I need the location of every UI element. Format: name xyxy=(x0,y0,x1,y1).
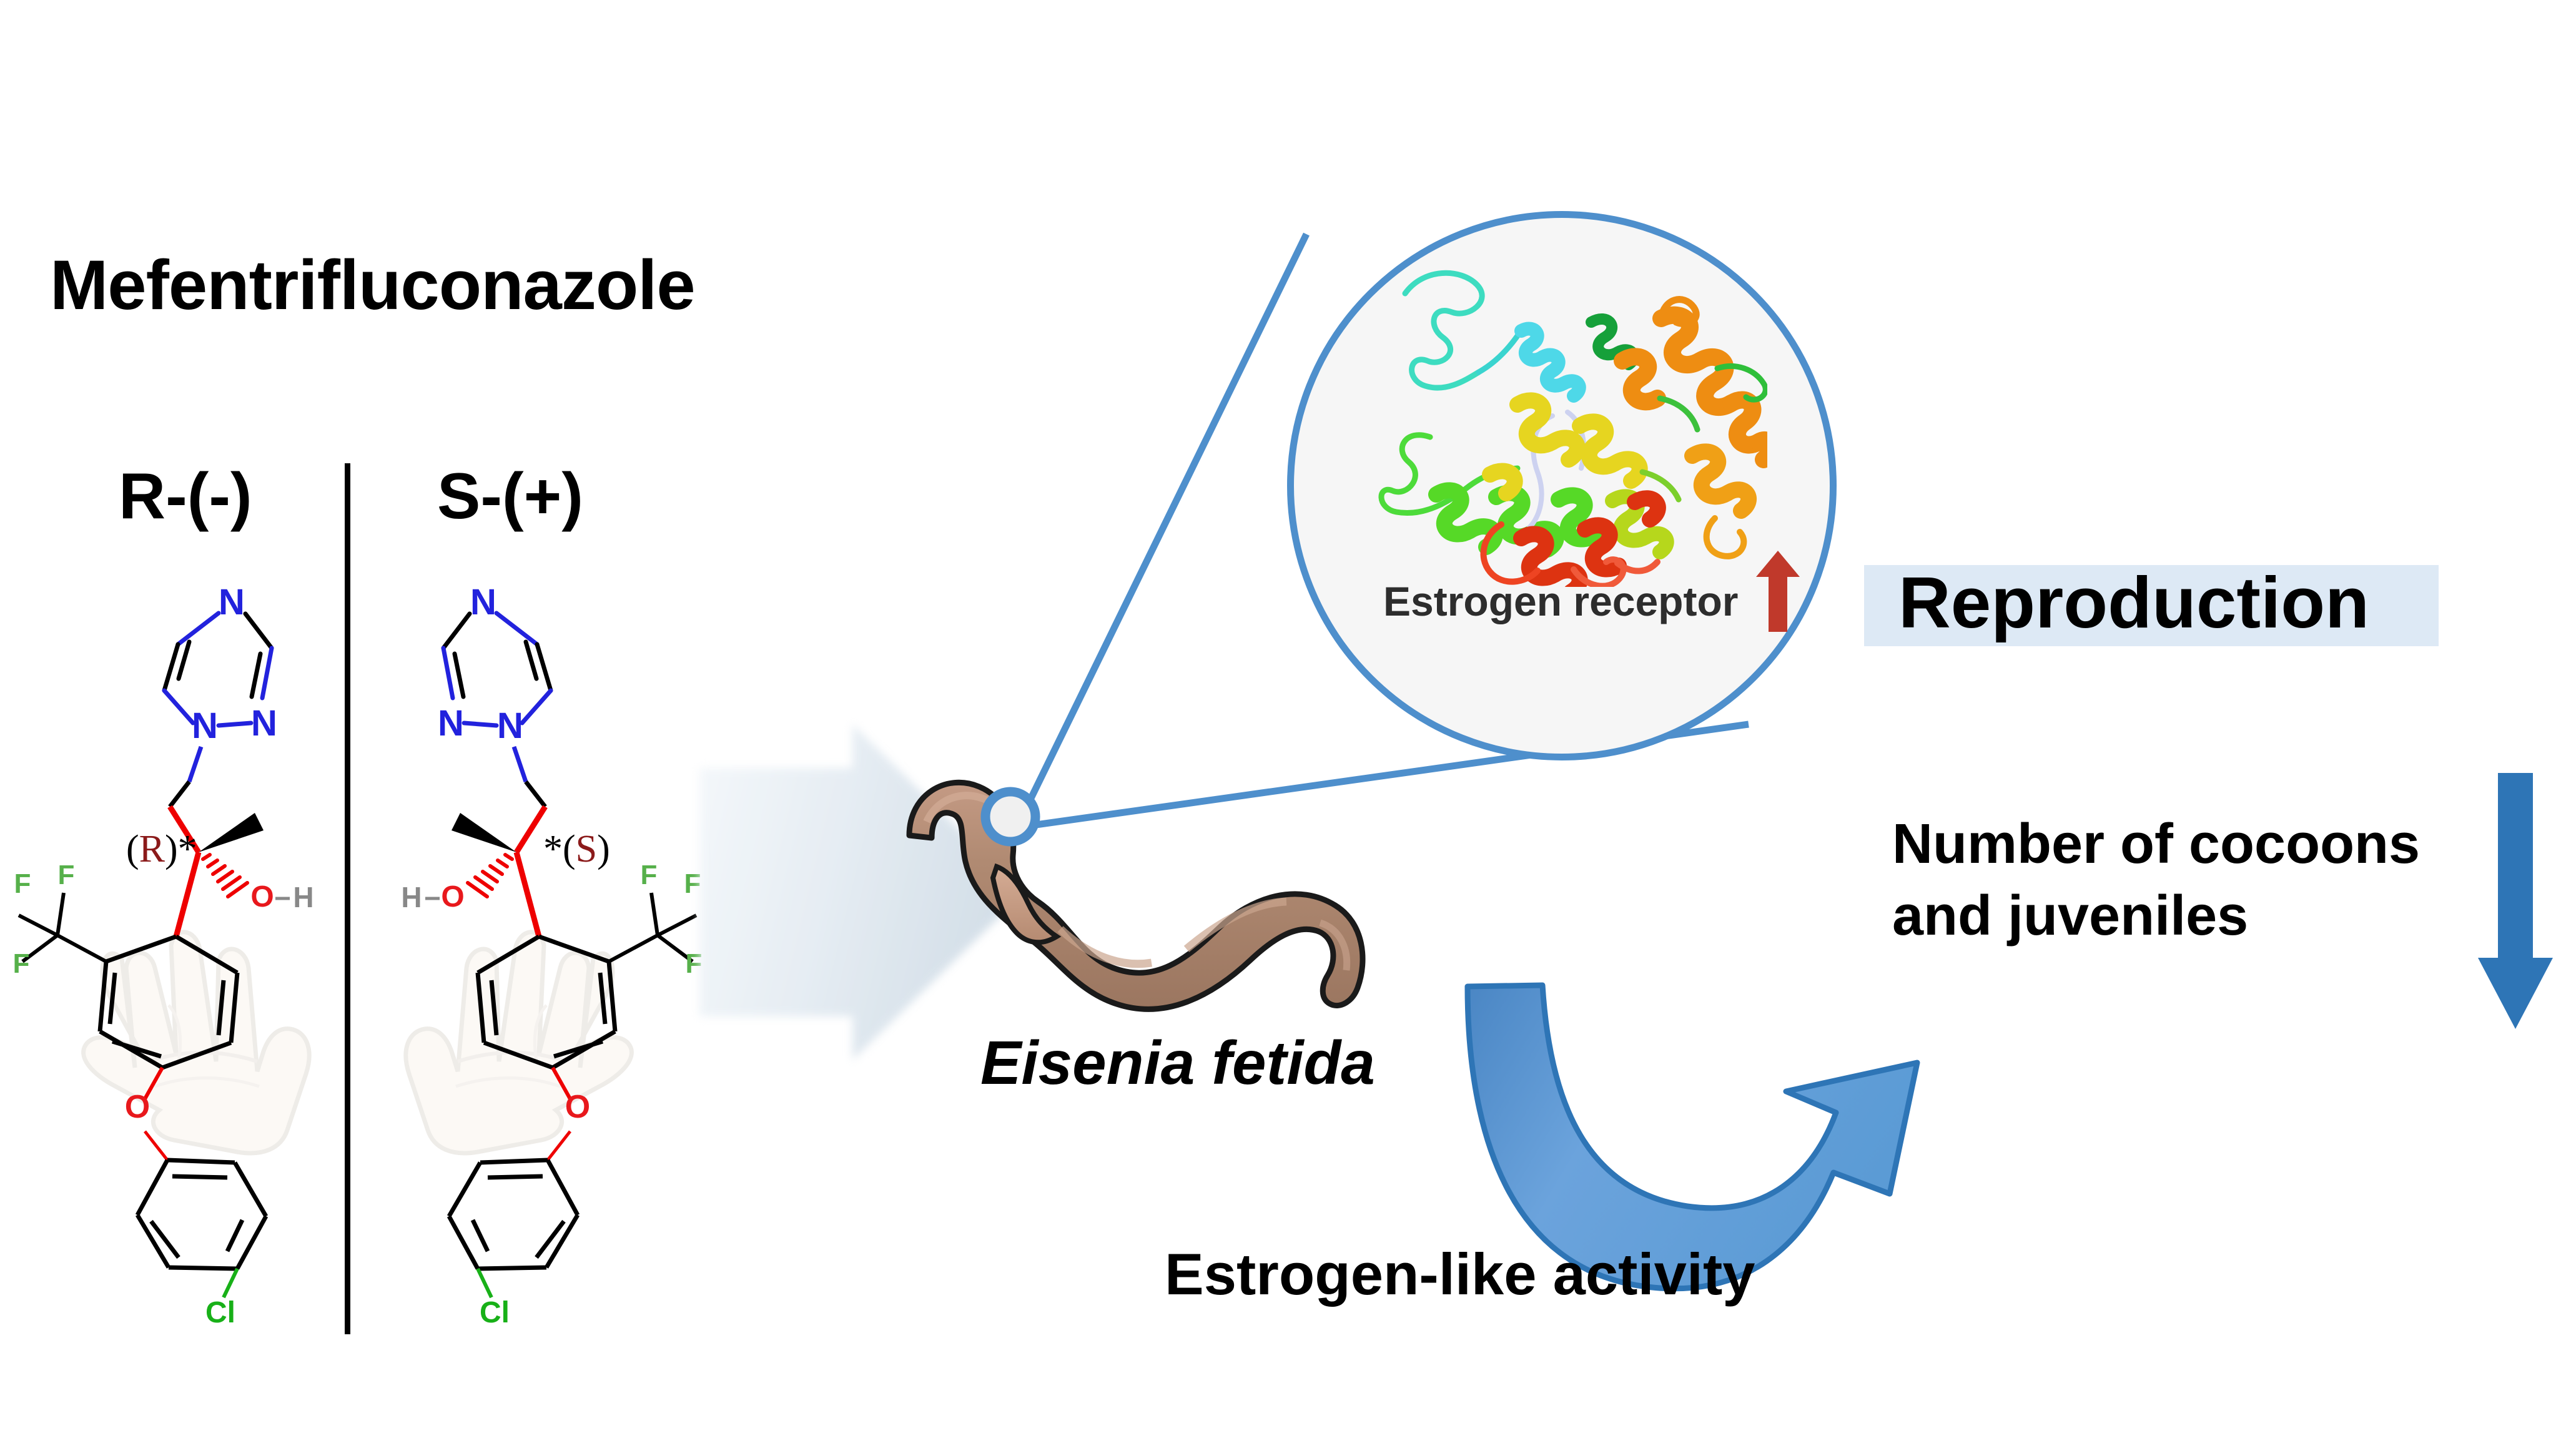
atom-label-n: N xyxy=(497,706,523,746)
atom-label-cl: Cl xyxy=(205,1296,235,1329)
atom-label-n: N xyxy=(438,703,464,744)
chlorophenyl-ring xyxy=(449,1160,578,1269)
atom-label-o: O xyxy=(250,880,274,913)
chemical-structure-r: N N N O H (R)* F F F xyxy=(12,568,350,1333)
wedge-bond xyxy=(199,813,264,852)
atom-label-n: N xyxy=(219,582,245,622)
enantiomer-label-s: S-(+) xyxy=(437,460,583,534)
atom-label-h: H xyxy=(293,881,313,913)
protein-ribbon-structure-icon xyxy=(1368,250,1767,587)
decrease-arrow-icon xyxy=(2478,773,2553,1029)
increase-arrow-icon xyxy=(1756,551,1800,632)
atom-label-f: F xyxy=(13,948,30,979)
wedge-bond xyxy=(452,813,516,852)
reproduction-heading: Reproduction xyxy=(1898,561,2369,644)
outcome-detail-line-1: Number of cocoons xyxy=(1892,809,2517,880)
hashed-bond xyxy=(468,855,512,897)
chlorophenyl-ring xyxy=(137,1160,266,1269)
atom-label-f: F xyxy=(14,868,31,899)
atom-label-o: O xyxy=(565,1089,590,1125)
estrogen-activity-label: Estrogen-like activity xyxy=(1165,1241,1755,1308)
atom-label-cl: Cl xyxy=(480,1296,510,1329)
estrogen-receptor-label: Estrogen receptor xyxy=(1383,578,1738,625)
outcome-detail: Number of cocoons and juveniles xyxy=(1892,809,2517,952)
enantiomer-label-r: R-(-) xyxy=(119,460,252,534)
stereo-descriptor-s: *(S) xyxy=(543,828,610,870)
atom-label-f: F xyxy=(641,860,658,890)
atom-label-h: H xyxy=(401,881,422,913)
zoom-target-marker xyxy=(985,792,1035,842)
outcome-detail-line-2: and juveniles xyxy=(1892,880,2517,952)
chemical-structure-s: N N N O H *(S) F F F O xyxy=(365,568,703,1333)
estrogen-activity-arrow-icon xyxy=(1455,974,2036,1374)
atom-label-n: N xyxy=(192,706,218,746)
species-name: Eisenia fetida xyxy=(980,1028,1375,1098)
atom-label-n: N xyxy=(470,582,496,622)
hashed-bond xyxy=(203,855,247,897)
atom-label-o: O xyxy=(125,1089,150,1125)
page-title: Mefentrifluconazole xyxy=(50,245,695,325)
stereo-descriptor-r: (R)* xyxy=(126,828,197,870)
atom-label-n: N xyxy=(251,703,277,744)
atom-label-f: F xyxy=(58,860,75,890)
atom-label-o: O xyxy=(441,880,464,913)
